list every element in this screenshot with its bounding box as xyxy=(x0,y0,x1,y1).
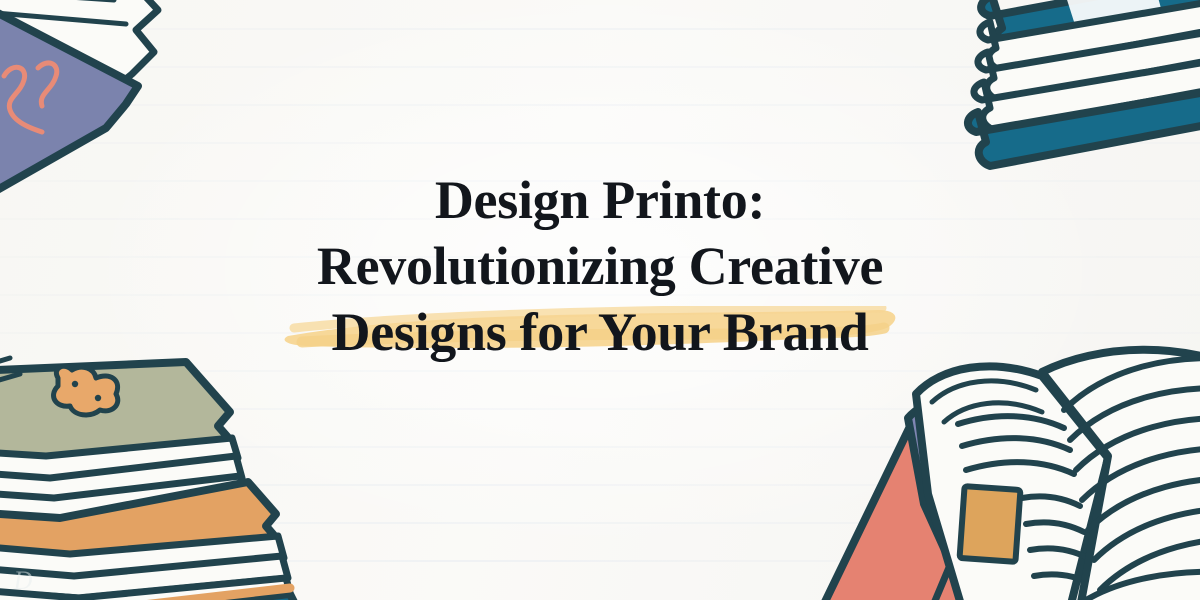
right-page-bottom-right xyxy=(1042,350,1200,600)
left-page-bottom-right xyxy=(916,366,1108,600)
corner-watermark: D xyxy=(6,564,40,598)
cover-doodles-top-left xyxy=(0,63,57,132)
spine-bottom-right xyxy=(908,401,1062,600)
headline-line-3: Designs for Your Brand xyxy=(0,300,1200,366)
book-stack-top-right xyxy=(950,0,1200,186)
book-pages-top-left xyxy=(0,0,158,192)
banner-canvas: Design Printo: Revolutionizing Creative … xyxy=(0,0,1200,600)
pages-group-upper-bottom-left xyxy=(0,438,246,520)
headline-line-1: Design Printo: xyxy=(0,168,1200,234)
book-top-bottom-left xyxy=(0,358,232,460)
pages-group-lower-bottom-left xyxy=(0,536,292,600)
headline-line-2: Revolutionizing Creative xyxy=(0,234,1200,300)
stack-bottom-cover-top-right xyxy=(968,84,1200,166)
book-stack-bottom-left xyxy=(0,356,316,600)
book-middle-bottom-left xyxy=(0,482,278,556)
book-bottom-bottom-left xyxy=(0,588,304,600)
stack-main-cover-top-right xyxy=(981,0,1200,56)
headline-block: Design Printo: Revolutionizing Creative … xyxy=(0,168,1200,366)
tilted-book-top-left xyxy=(0,0,196,182)
stack-pages-top-right xyxy=(974,0,1200,130)
bear-emblem xyxy=(54,366,118,415)
left-page-text-lines xyxy=(958,416,1092,584)
right-page-text-lines xyxy=(1064,358,1200,590)
under-book-bottom-right xyxy=(822,410,1062,600)
page-image-block xyxy=(960,486,1021,562)
